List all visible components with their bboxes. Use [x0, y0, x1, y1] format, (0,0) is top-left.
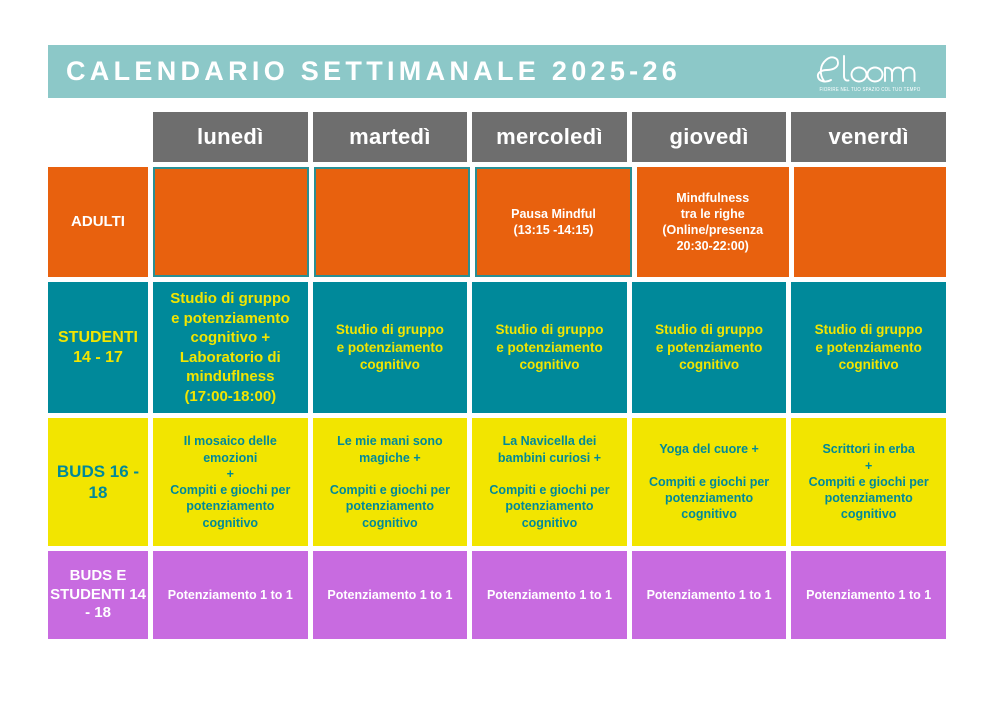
cell-studenti-venerdi[interactable]: Studio di gruppo e potenziamento cogniti… [791, 282, 946, 413]
cell-text: Pausa Mindful (13:15 -14:15) [483, 206, 623, 239]
cell-adulti-mercoledi[interactable]: Pausa Mindful (13:15 -14:15) [475, 167, 631, 277]
cell-text: Potenziamento 1 to 1 [638, 587, 781, 603]
bloom-logo-tagline: FIORIRE NEL TUO SPAZIO COL TUO TEMPO [819, 87, 920, 93]
cell-text: Studio di gruppo e potenziamento cogniti… [478, 321, 621, 374]
cell-text: Studio di gruppo e potenziamento cogniti… [638, 321, 781, 374]
calendar-row-buds-e-studenti: BUDS E STUDENTI 14 - 18 Potenziamento 1 … [48, 551, 946, 639]
day-header-lunedi: lunedì [153, 112, 308, 162]
cell-buds-martedi[interactable]: Le mie mani sono magiche + Compiti e gio… [313, 418, 468, 546]
page-title: CALENDARIO SETTIMANALE 2025-26 [66, 58, 681, 85]
cell-text: La Navicella dei bambini curiosi + Compi… [478, 433, 621, 531]
row-label-studenti: STUDENTI 14 - 17 [48, 282, 148, 413]
row-label-buds: BUDS 16 - 18 [48, 418, 148, 546]
day-header-martedi: martedì [313, 112, 468, 162]
calendar-row-studenti: STUDENTI 14 - 17 Studio di gruppo e pote… [48, 282, 946, 413]
cell-adulti-giovedi[interactable]: Mindfulness tra le righe (Online/presenz… [637, 167, 789, 277]
cell-adulti-lunedi[interactable] [153, 167, 309, 277]
cell-text: Le mie mani sono magiche + Compiti e gio… [319, 433, 462, 531]
weekly-calendar-grid: lunedì martedì mercoledì giovedì venerdì… [48, 112, 946, 639]
cell-text: Mindfulness tra le righe (Online/presenz… [643, 190, 783, 255]
cell-both-lunedi[interactable]: Potenziamento 1 to 1 [153, 551, 308, 639]
bloom-logo: FIORIRE NEL TUO SPAZIO COL TUO TEMPO [810, 49, 930, 95]
cell-text: Potenziamento 1 to 1 [319, 587, 462, 603]
day-header-mercoledi: mercoledì [472, 112, 627, 162]
calendar-row-adulti: ADULTI Pausa Mindful (13:15 -14:15) Mind… [48, 167, 946, 277]
cell-studenti-lunedi[interactable]: Studio di gruppo e potenziamento cogniti… [153, 282, 308, 413]
cell-both-mercoledi[interactable]: Potenziamento 1 to 1 [472, 551, 627, 639]
row-label-adulti: ADULTI [48, 167, 148, 277]
cell-adulti-venerdi[interactable] [794, 167, 946, 277]
cell-studenti-martedi[interactable]: Studio di gruppo e potenziamento cogniti… [313, 282, 468, 413]
header-corner-spacer [48, 112, 148, 162]
cell-text: Yoga del cuore + Compiti e giochi per po… [638, 441, 781, 522]
cell-buds-lunedi[interactable]: Il mosaico delle emozioni + Compiti e gi… [153, 418, 308, 546]
day-header-venerdi: venerdì [791, 112, 946, 162]
row-label-buds-e-studenti: BUDS E STUDENTI 14 - 18 [48, 551, 148, 639]
cell-buds-giovedi[interactable]: Yoga del cuore + Compiti e giochi per po… [632, 418, 787, 546]
cell-both-martedi[interactable]: Potenziamento 1 to 1 [313, 551, 468, 639]
cell-text: Studio di gruppo e potenziamento cogniti… [319, 321, 462, 374]
cell-studenti-giovedi[interactable]: Studio di gruppo e potenziamento cogniti… [632, 282, 787, 413]
calendar-header-row: lunedì martedì mercoledì giovedì venerdì [48, 112, 946, 162]
cell-studenti-mercoledi[interactable]: Studio di gruppo e potenziamento cogniti… [472, 282, 627, 413]
cell-adulti-martedi[interactable] [314, 167, 470, 277]
cell-buds-mercoledi[interactable]: La Navicella dei bambini curiosi + Compi… [472, 418, 627, 546]
day-header-giovedi: giovedì [632, 112, 787, 162]
page-banner: CALENDARIO SETTIMANALE 2025-26 FIORIRE N… [48, 45, 946, 98]
cell-text: Potenziamento 1 to 1 [159, 587, 302, 603]
cell-text: Studio di gruppo e potenziamento cogniti… [159, 289, 302, 406]
cell-both-giovedi[interactable]: Potenziamento 1 to 1 [632, 551, 787, 639]
cell-both-venerdi[interactable]: Potenziamento 1 to 1 [791, 551, 946, 639]
cell-text: Scrittori in erba + Compiti e giochi per… [797, 441, 940, 522]
cell-text: Potenziamento 1 to 1 [797, 587, 940, 603]
cell-text: Potenziamento 1 to 1 [478, 587, 621, 603]
cell-buds-venerdi[interactable]: Scrittori in erba + Compiti e giochi per… [791, 418, 946, 546]
cell-text: Il mosaico delle emozioni + Compiti e gi… [159, 433, 302, 531]
cell-text: Studio di gruppo e potenziamento cogniti… [797, 321, 940, 374]
calendar-row-buds: BUDS 16 - 18 Il mosaico delle emozioni +… [48, 418, 946, 546]
bloom-wordmark-icon [814, 52, 926, 86]
